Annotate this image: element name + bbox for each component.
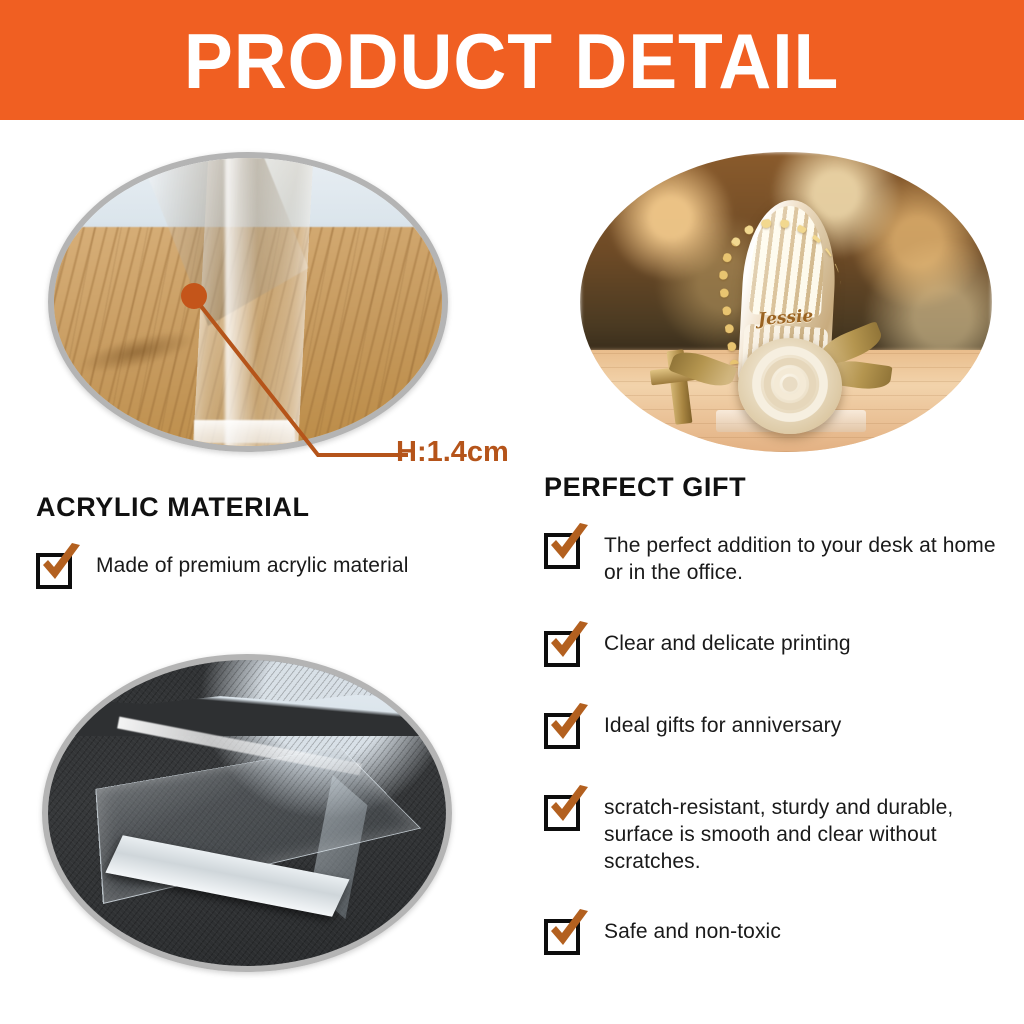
feature-list-acrylic-material: Made of premium acrylic material xyxy=(36,545,516,591)
checkbox-checked-icon xyxy=(544,913,588,957)
checkbox-checked-icon xyxy=(36,547,80,591)
list-item: The perfect addition to your desk at hom… xyxy=(544,525,1004,587)
section-heading-perfect-gift: PERFECT GIFT xyxy=(544,472,1004,503)
section-heading-acrylic-material: ACRYLIC MATERIAL xyxy=(36,492,516,523)
list-item: Made of premium acrylic material xyxy=(36,545,516,591)
page-title: PRODUCT DETAIL xyxy=(184,22,839,100)
checkbox-checked-icon xyxy=(544,625,588,669)
checkbox-checked-icon xyxy=(544,527,588,571)
checkmark-icon xyxy=(547,621,591,669)
list-item: scratch-resistant, sturdy and durable, s… xyxy=(544,787,1004,876)
checkmark-icon xyxy=(547,523,591,571)
section-perfect-gift: PERFECT GIFT The perfect addition to you… xyxy=(544,472,1004,993)
engraved-name: Jessie xyxy=(757,306,814,330)
photo-acrylic-edge xyxy=(48,152,448,452)
checkmark-icon xyxy=(39,543,83,591)
acrylic-sheen xyxy=(225,152,256,452)
checkmark-icon xyxy=(547,703,591,751)
checkmark-icon xyxy=(547,909,591,957)
acrylic-foot xyxy=(194,420,295,443)
list-item: Clear and delicate printing xyxy=(544,623,1004,669)
header-banner: PRODUCT DETAIL xyxy=(0,0,1024,120)
checkbox-checked-icon xyxy=(544,789,588,833)
feature-text: The perfect addition to your desk at hom… xyxy=(604,525,1004,587)
rose-flower-icon xyxy=(738,338,842,434)
feature-text: Safe and non-toxic xyxy=(604,911,781,946)
feature-text: scratch-resistant, sturdy and durable, s… xyxy=(604,787,1004,876)
photo-acrylic-block xyxy=(42,654,452,972)
list-item: Ideal gifts for anniversary xyxy=(544,705,1004,751)
section-acrylic-material: ACRYLIC MATERIAL Made of premium acrylic… xyxy=(36,492,516,591)
checkbox-checked-icon xyxy=(544,707,588,751)
feature-text: Ideal gifts for anniversary xyxy=(604,705,841,740)
feature-text: Clear and delicate printing xyxy=(604,623,851,658)
photo-figurine: Jessie xyxy=(580,152,992,452)
list-item: Safe and non-toxic xyxy=(544,911,1004,957)
feature-list-perfect-gift: The perfect addition to your desk at hom… xyxy=(544,525,1004,957)
height-measurement-label: H:1.4cm xyxy=(396,436,509,469)
feature-text: Made of premium acrylic material xyxy=(96,545,408,580)
callout-anchor-dot xyxy=(181,283,207,309)
checkmark-icon xyxy=(547,785,591,833)
